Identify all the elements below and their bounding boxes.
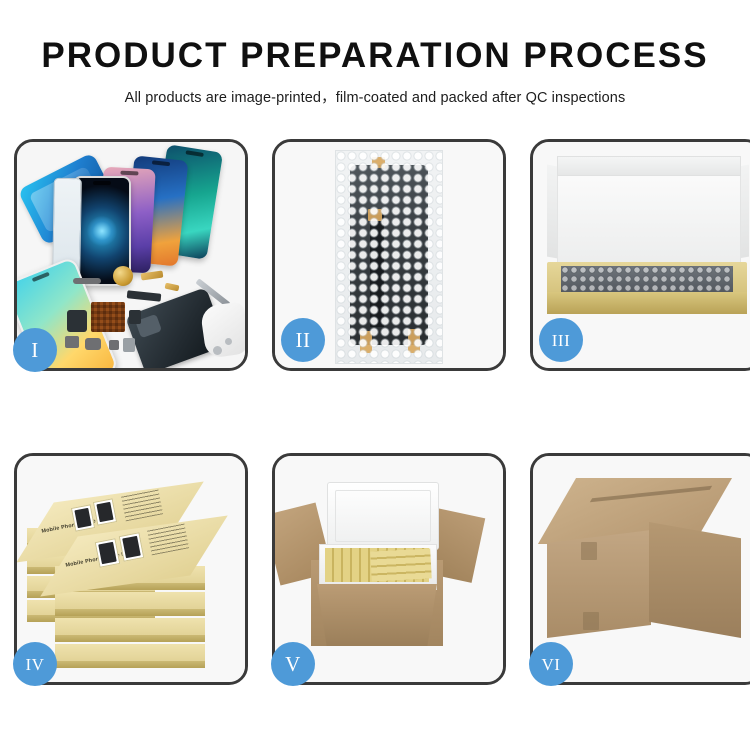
sealed-carton-right-face (649, 522, 741, 638)
stack-box-f-3 (55, 618, 205, 642)
step-badge-4: IV (13, 642, 57, 686)
stack-box-f-4 (55, 644, 205, 668)
header: PRODUCT PREPARATION PROCESS All products… (0, 0, 750, 107)
step-badge-6: VI (529, 642, 573, 686)
flex-cable-1 (127, 290, 162, 302)
speaker-component (113, 266, 133, 286)
process-step-1: I (14, 139, 248, 371)
bubble-texture (336, 151, 442, 363)
page-title: PRODUCT PREPARATION PROCESS (0, 38, 750, 73)
stack-box-f-2 (55, 592, 205, 616)
flex-cable-3 (129, 310, 141, 324)
carton-tab-upper (581, 542, 597, 560)
small-chip-2 (85, 338, 101, 350)
screw-2 (225, 338, 232, 345)
step-badge-3: III (539, 318, 583, 362)
product-preparation-infographic: PRODUCT PREPARATION PROCESS All products… (0, 0, 750, 750)
kraft-tray-front (547, 292, 747, 314)
flex-cable-2 (67, 310, 87, 332)
process-step-5: V (272, 453, 506, 685)
process-step-2: II (272, 139, 506, 371)
bubble-wrap-bag (335, 150, 443, 364)
small-chip-1 (65, 336, 79, 348)
logic-board-component (91, 302, 125, 332)
step-1-image (17, 142, 245, 368)
yellow-boxes-row-2 (370, 548, 431, 581)
sim-tray (123, 338, 135, 352)
page-subtitle: All products are image-printed，film-coat… (0, 86, 750, 107)
process-step-3: III (530, 139, 750, 371)
white-lid-top-edge (557, 156, 741, 176)
step-badge-5: V (271, 642, 315, 686)
box-window-rear-2 (93, 498, 117, 525)
gold-connector-1 (141, 271, 164, 281)
process-step-4: Mobile Phone Spare Parts (14, 453, 248, 685)
step-5-image (275, 456, 503, 682)
step-4-image: Mobile Phone Spare Parts (17, 456, 245, 682)
screw-1 (213, 346, 222, 355)
box-window-rear-1 (71, 504, 95, 531)
carton-front-face (317, 584, 437, 646)
antenna-strip (73, 278, 101, 284)
foam-lid (327, 482, 439, 550)
process-step-6: VI (530, 453, 750, 685)
sealed-carton-left-face (547, 530, 651, 638)
process-step-grid: I II (14, 139, 736, 685)
small-chip-3 (109, 340, 119, 350)
step-badge-2: II (281, 318, 325, 362)
gold-connector-2 (165, 283, 180, 292)
bubble-wrapped-contents (561, 266, 733, 294)
step-badge-1: I (13, 328, 57, 372)
carton-tab-lower (583, 612, 599, 630)
box-stack: Mobile Phone Spare Parts (23, 470, 239, 674)
